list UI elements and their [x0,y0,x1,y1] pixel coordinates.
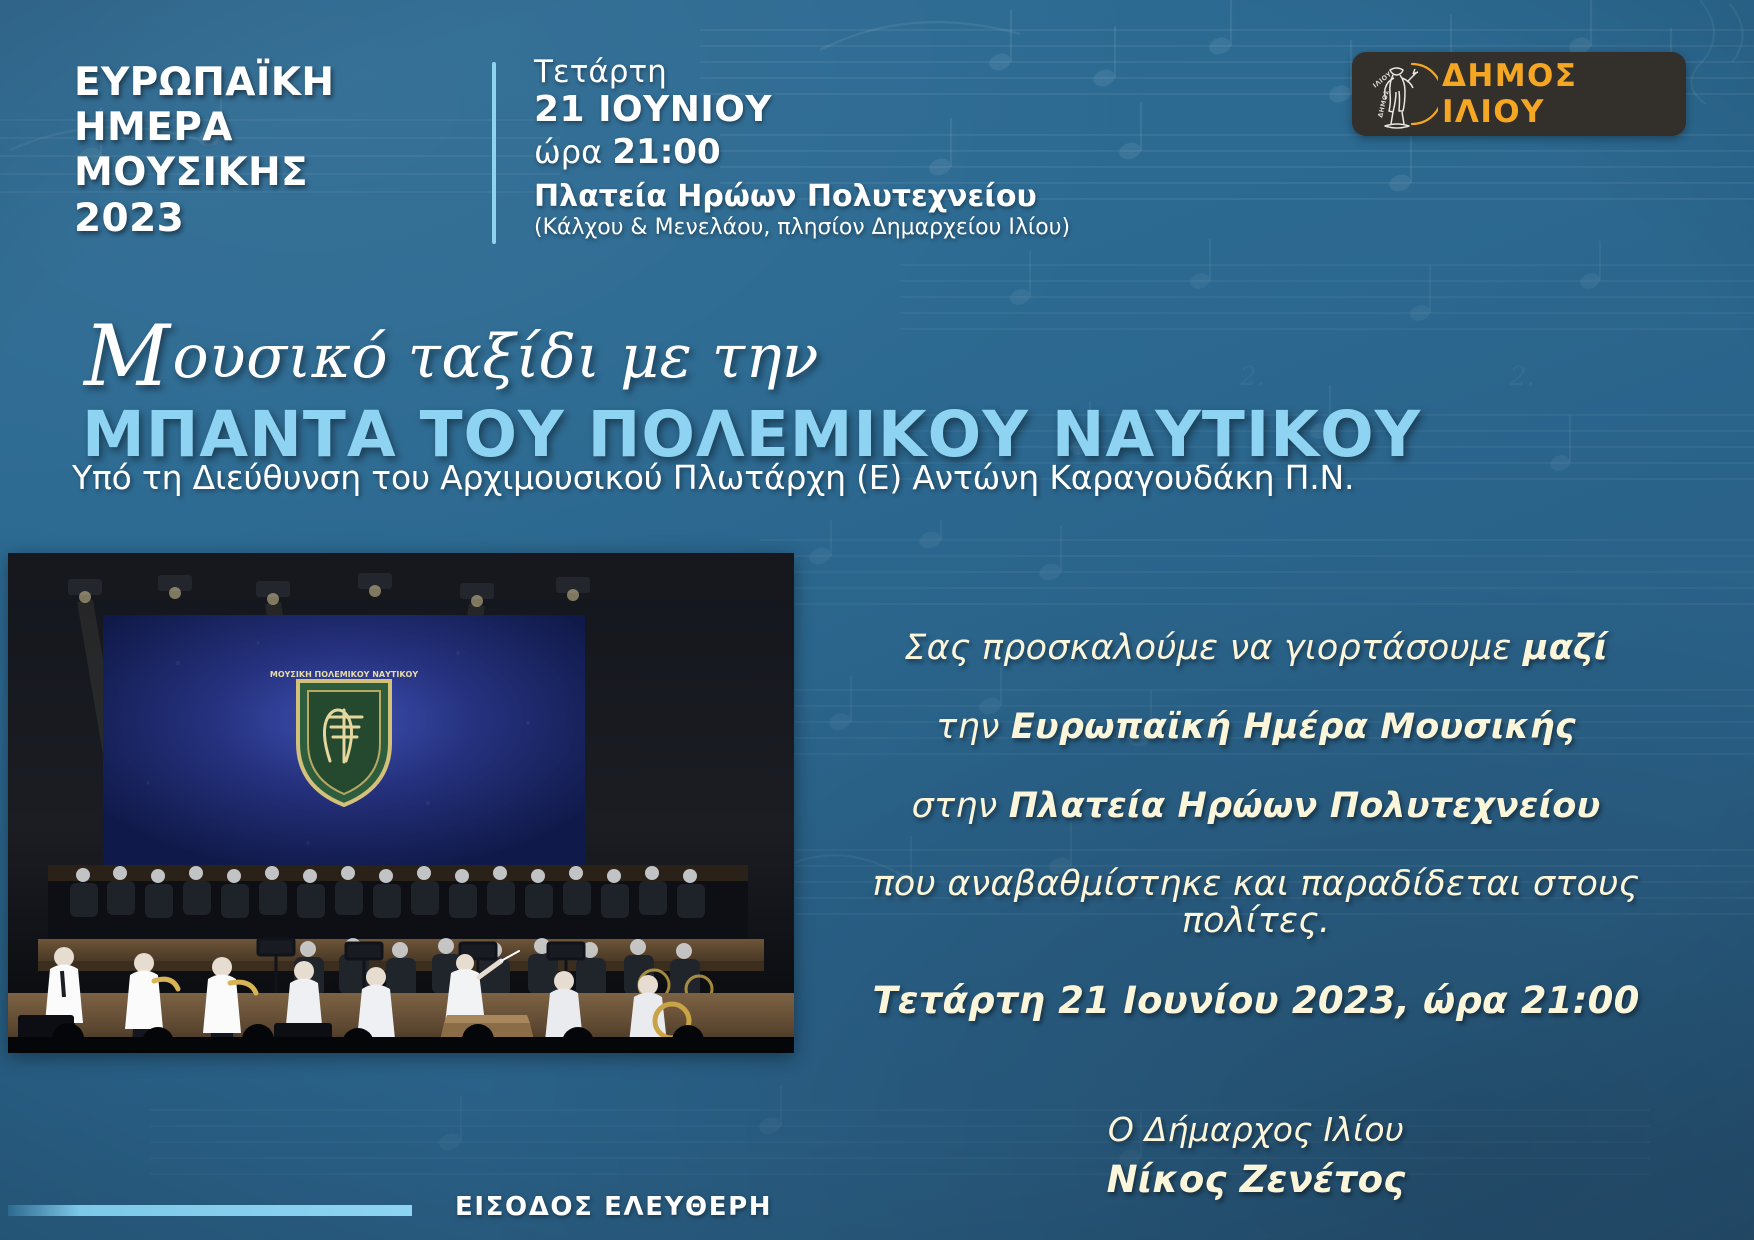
municipality-emblem-icon: ΔΗΜΟΣ ΙΛΙΟΥ [1352,52,1438,136]
invitation-line-3-emphasis: Πλατεία Ηρώων Πολυτεχνείου [1009,786,1601,826]
mayor-name: Νίκος Ζενέτος [800,1161,1712,1200]
mayor-role: Ο Δήμαρχος Ιλίου [800,1113,1712,1148]
invitation-line-1: Σας προσκαλούμε να γιορτάσουμε μαζί [800,630,1712,667]
header-divider [492,62,496,244]
poster-root: 2. 2. [0,0,1754,1240]
invitation-line-1-a: Σας προσκαλούμε να γιορτάσουμε [904,628,1523,668]
invitation-line-4: που αναβαθμίστηκε και παραδίδεται στους … [800,866,1712,940]
invitation-line-3: στην Πλατεία Ηρώων Πολυτεχνείου [800,788,1712,825]
invitation-text: Σας προσκαλούμε να γιορτάσουμε μαζί την … [800,630,1712,1200]
headline-script: Μουσικό ταξίδι με την [84,322,819,392]
headline-script-initial: Μ [84,307,173,405]
conductor-credit: Υπό τη Διεύθυνση του Αρχιμουσικού Πλωτάρ… [72,458,1692,497]
concert-photo: ΜΟΥΣΙΚΗ ΠΟΛΕΜΙΚΟΥ ΝΑΥΤΙΚΟΥ [8,553,794,1053]
invitation-line-3-a: στην [912,786,1009,826]
municipality-logo-text: ΔΗΜΟΣ ΙΛΙΟΥ [1442,58,1686,130]
event-venue-detail: (Κάλχου & Μενελάου, πλησίον Δημαρχείου Ι… [534,215,1070,242]
invitation-line-2-a: την [936,707,1011,747]
invitation-line-1-emphasis: μαζί [1523,628,1608,668]
headline-script-rest: ουσικό ταξίδι με την [173,322,820,392]
page-title: ΕΥΡΩΠΑΪΚΗ ΗΜΕΡΑ ΜΟΥΣΙΚΗΣ 2023 [74,60,334,241]
invitation-date-line: Τετάρτη 21 Ιουνίου 2023, ώρα 21:00 [800,982,1712,1021]
invitation-line-2: την Ευρωπαϊκή Ημέρα Μουσικής [800,709,1712,746]
svg-text:2.: 2. [1239,362,1265,392]
svg-text:ΔΗΜΟΣ: ΔΗΜΟΣ [1376,89,1391,119]
municipality-logo[interactable]: ΔΗΜΟΣ ΙΛΙΟΥ ΔΗΜΟΣ ΙΛΙΟΥ [1352,52,1686,136]
event-time: ώρα 21:00 [534,132,1070,173]
event-time-value: 21:00 [612,132,720,172]
footer-accent-bar [8,1205,412,1216]
invitation-line-2-emphasis: Ευρωπαϊκή Ημέρα Μουσικής [1011,707,1576,747]
event-time-label: ώρα [534,133,602,171]
event-venue: Πλατεία Ηρώων Πολυτεχνείου [534,179,1070,215]
svg-text:2.: 2. [1509,362,1535,392]
event-date: 21 ΙΟΥΝΙΟΥ [534,89,1070,131]
admission-notice: ΕΙΣΟΔΟΣ ΕΛΕΥΘΕΡΗ [455,1192,772,1222]
event-weekday: Τετάρτη [534,56,1070,89]
event-datetime-block: Τετάρτη 21 ΙΟΥΝΙΟΥ ώρα 21:00 Πλατεία Ηρώ… [534,56,1070,242]
